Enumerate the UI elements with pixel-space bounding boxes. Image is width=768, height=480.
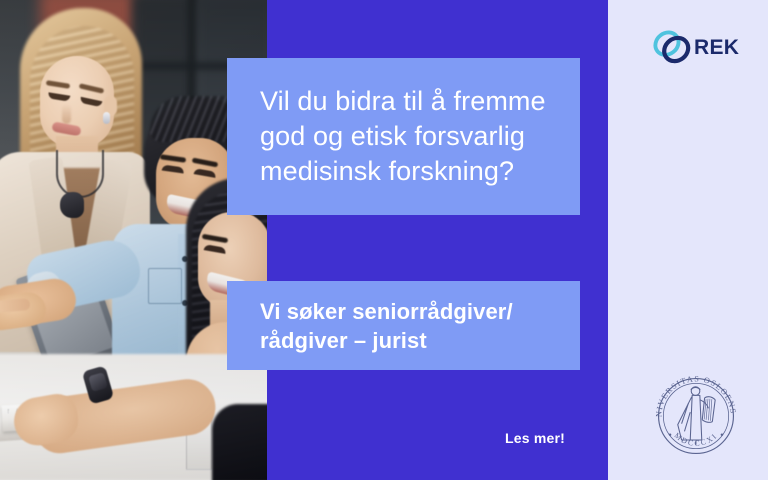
rek-logo[interactable]: REK: [650, 26, 746, 68]
woman-necklace-pendant: [60, 192, 84, 218]
uio-seal: UNIVERSITAS OSLOENSIS MDCCCXI: [648, 368, 744, 464]
rek-wordmark: REK: [694, 37, 739, 58]
page-title: Vil du bidra til å fremme god og etisk f…: [227, 84, 546, 189]
job-title: Vi søker seniorrådgiver/ rådgiver – juri…: [227, 297, 513, 355]
uio-seal-top-text: UNIVERSITAS OSLOENSIS: [648, 368, 738, 417]
read-more-link[interactable]: Les mer!: [505, 430, 565, 446]
man-shirt-pocket: [148, 268, 182, 304]
woman-nose: [62, 104, 71, 124]
woman-earring: [103, 112, 110, 124]
woman-necklace-chain: [56, 150, 104, 198]
rek-recruitment-banner: Vil du bidra til å fremme god og etisk f…: [0, 0, 768, 480]
subheadline-box: Vi søker seniorrådgiver/ rådgiver – juri…: [227, 281, 580, 370]
interlocking-rings-icon: [650, 26, 694, 68]
woman2-hair-lower: [212, 404, 267, 480]
headline-box: Vil du bidra til å fremme god og etisk f…: [227, 58, 580, 215]
